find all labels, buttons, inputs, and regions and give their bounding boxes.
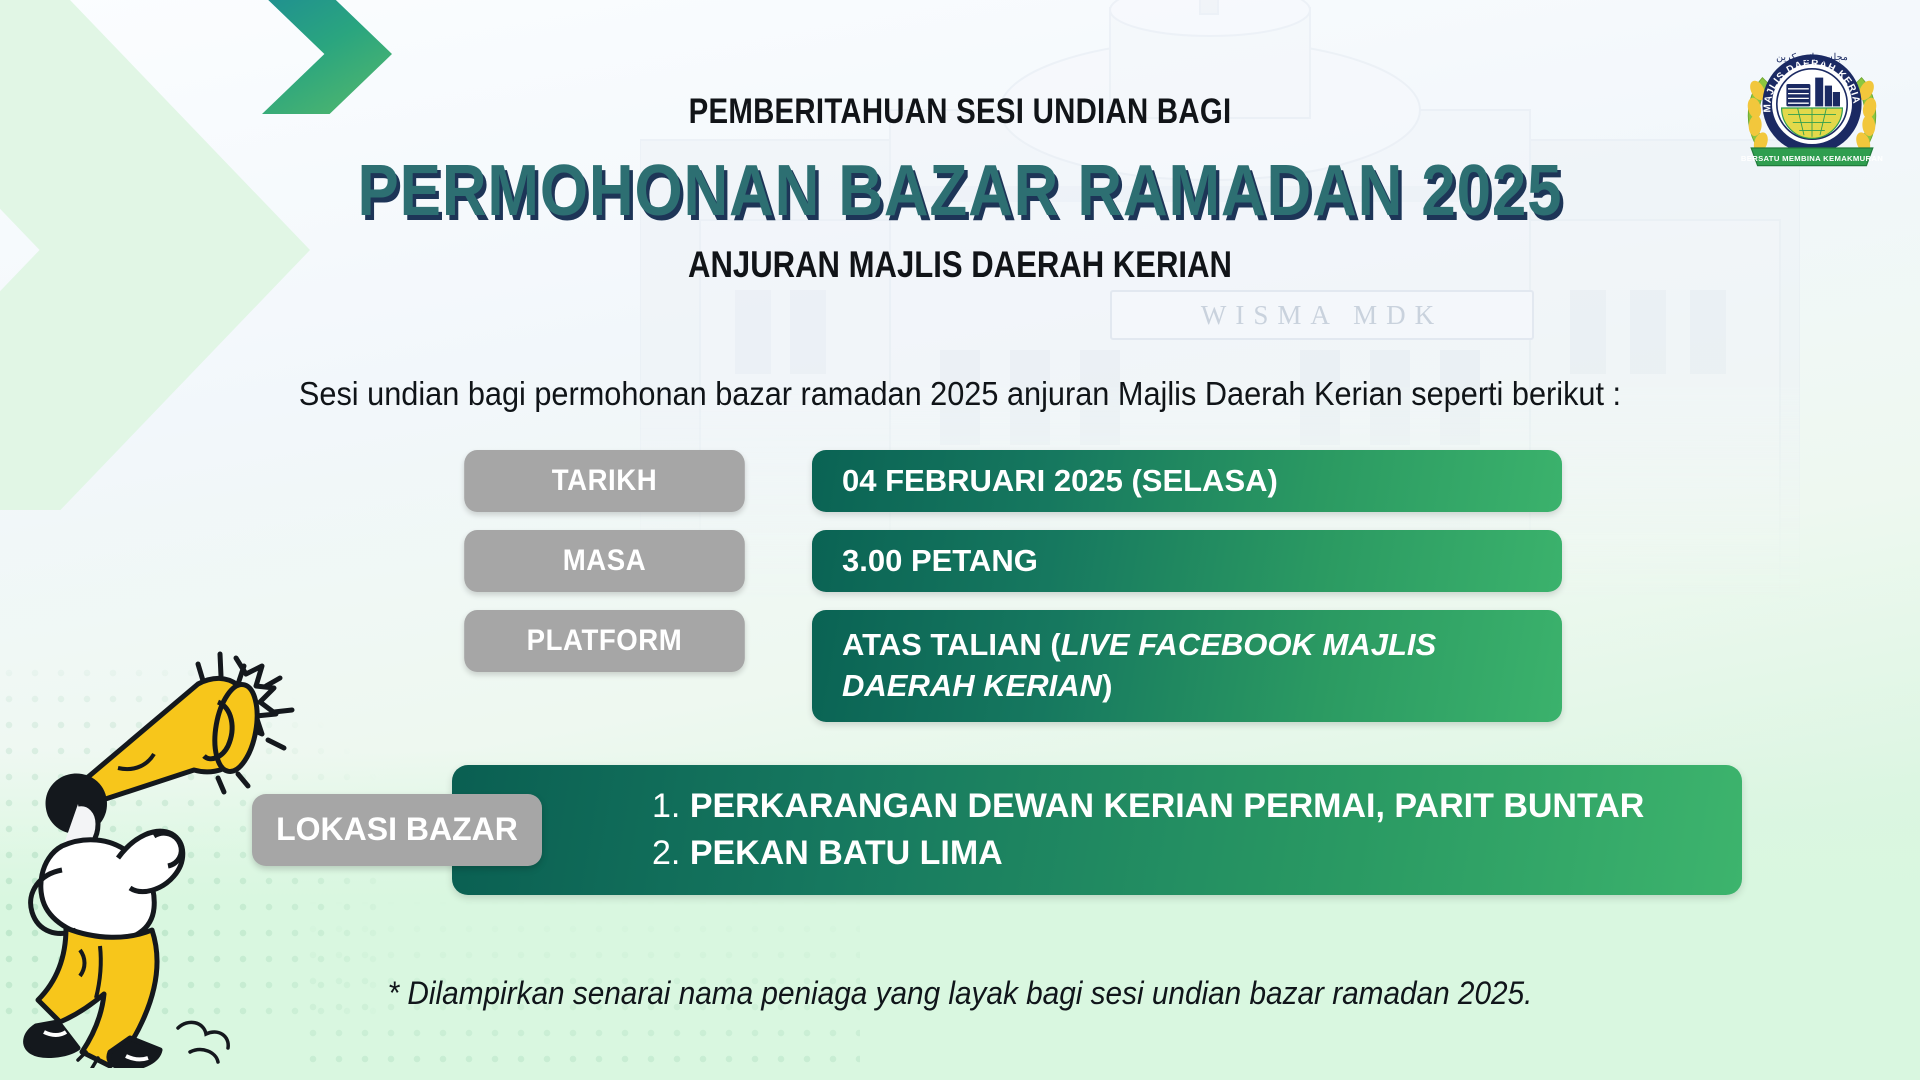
poster-header: PEMBERITAHUAN SESI UNDIAN BAGI PERMOHONA…: [0, 92, 1920, 286]
lokasi-value-box: LOKASI BAZAR 1. PERKARANGAN DEWAN KERIAN…: [452, 765, 1742, 895]
svg-text:مجلس دائره كرين: مجلس دائره كرين: [1776, 52, 1848, 63]
intro-sentence: Sesi undian bagi permohonan bazar ramada…: [67, 375, 1853, 413]
detail-row-masa: MASA 3.00 PETANG: [452, 530, 1562, 592]
footnote: * Dilampirkan senarai nama peniaga yang …: [67, 975, 1853, 1012]
value-masa: 3.00 PETANG: [812, 530, 1562, 592]
lokasi-item-number: 2.: [652, 834, 680, 872]
details-list: TARIKH 04 FEBRUARI 2025 (SELASA) MASA 3.…: [452, 450, 1562, 740]
label-platform: PLATFORM: [464, 610, 745, 672]
lokasi-list-item: 2. PEKAN BATU LIMA: [652, 830, 1712, 877]
poster-canvas: WISMA MDK: [0, 0, 1920, 1080]
detail-row-tarikh: TARIKH 04 FEBRUARI 2025 (SELASA): [452, 450, 1562, 512]
value-platform: ATAS TALIAN (LIVE FACEBOOK MAJLIS DAERAH…: [812, 610, 1562, 722]
detail-row-platform: PLATFORM ATAS TALIAN (LIVE FACEBOOK MAJL…: [452, 610, 1562, 722]
header-subtitle: ANJURAN MAJLIS DAERAH KERIAN: [154, 244, 1767, 286]
platform-paren-close: ): [1102, 668, 1112, 703]
lokasi-list-item: 1. PERKARANGAN DEWAN KERIAN PERMAI, PARI…: [652, 783, 1712, 830]
lokasi-item-text: PERKARANGAN DEWAN KERIAN PERMAI, PARIT B…: [690, 787, 1645, 825]
lokasi-item-text: PEKAN BATU LIMA: [690, 834, 1003, 872]
platform-paren-open: (: [1050, 627, 1060, 662]
label-lokasi-bazar: LOKASI BAZAR: [252, 794, 542, 866]
lokasi-item-number: 1.: [652, 787, 680, 825]
platform-mode: ATAS TALIAN: [842, 627, 1050, 662]
value-tarikh: 04 FEBRUARI 2025 (SELASA): [812, 450, 1562, 512]
page-title: PERMOHONAN BAZAR RAMADAN 2025: [134, 150, 1785, 232]
label-tarikh: TARIKH: [464, 450, 745, 512]
label-masa: MASA: [464, 530, 745, 592]
wisma-mdk-sign: WISMA MDK: [1110, 290, 1534, 340]
header-kicker: PEMBERITAHUAN SESI UNDIAN BAGI: [154, 92, 1767, 132]
lokasi-section: LOKASI BAZAR 1. PERKARANGAN DEWAN KERIAN…: [452, 765, 1742, 895]
